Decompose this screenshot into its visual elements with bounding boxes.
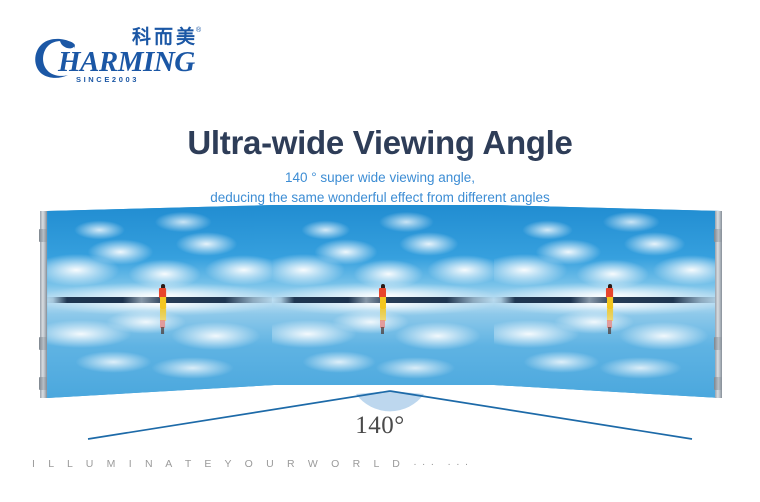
sky-layer: [46, 200, 274, 300]
figure-skirt: [606, 297, 612, 309]
mounting-bracket-tab: [39, 337, 47, 350]
brand-since-label: SINCE2003: [76, 76, 139, 84]
figure-skirt: [159, 297, 165, 309]
right-panel-scene: [494, 200, 722, 400]
figure-reflection-lower: [608, 327, 611, 334]
mounting-bracket-tab: [39, 229, 47, 242]
angle-value-label: 140°: [0, 412, 760, 440]
mounting-bracket-tab: [714, 229, 722, 242]
registered-trademark-icon: ®: [196, 27, 201, 34]
led-display-wall: [0, 200, 760, 410]
brand-logo: 科而美 ® HARMING SINCE2003: [30, 26, 210, 88]
subtitle-line-1: 140 ° super wide viewing angle,: [0, 168, 760, 188]
footer-tagline: I L L U M I N A T E Y O U R W O R L D ··…: [32, 458, 474, 470]
brand-wordmark: HARMING: [58, 48, 195, 77]
right-panel: [494, 200, 722, 400]
left-panel: [46, 200, 274, 400]
left-panel-scene: [46, 200, 274, 400]
center-panel: [272, 200, 496, 400]
left-side-bezel-rail: [40, 211, 47, 398]
figure-skirt: [380, 297, 386, 309]
mounting-bracket-tab: [714, 337, 722, 350]
brand-chinese-name: 科而美: [132, 28, 198, 47]
center-panel-scene: [272, 200, 496, 400]
figure-reflection-lower: [381, 327, 384, 334]
page-title: Ultra-wide Viewing Angle: [0, 124, 760, 162]
right-side-bezel-rail: [715, 211, 722, 398]
figure-reflection-lower: [161, 327, 164, 334]
